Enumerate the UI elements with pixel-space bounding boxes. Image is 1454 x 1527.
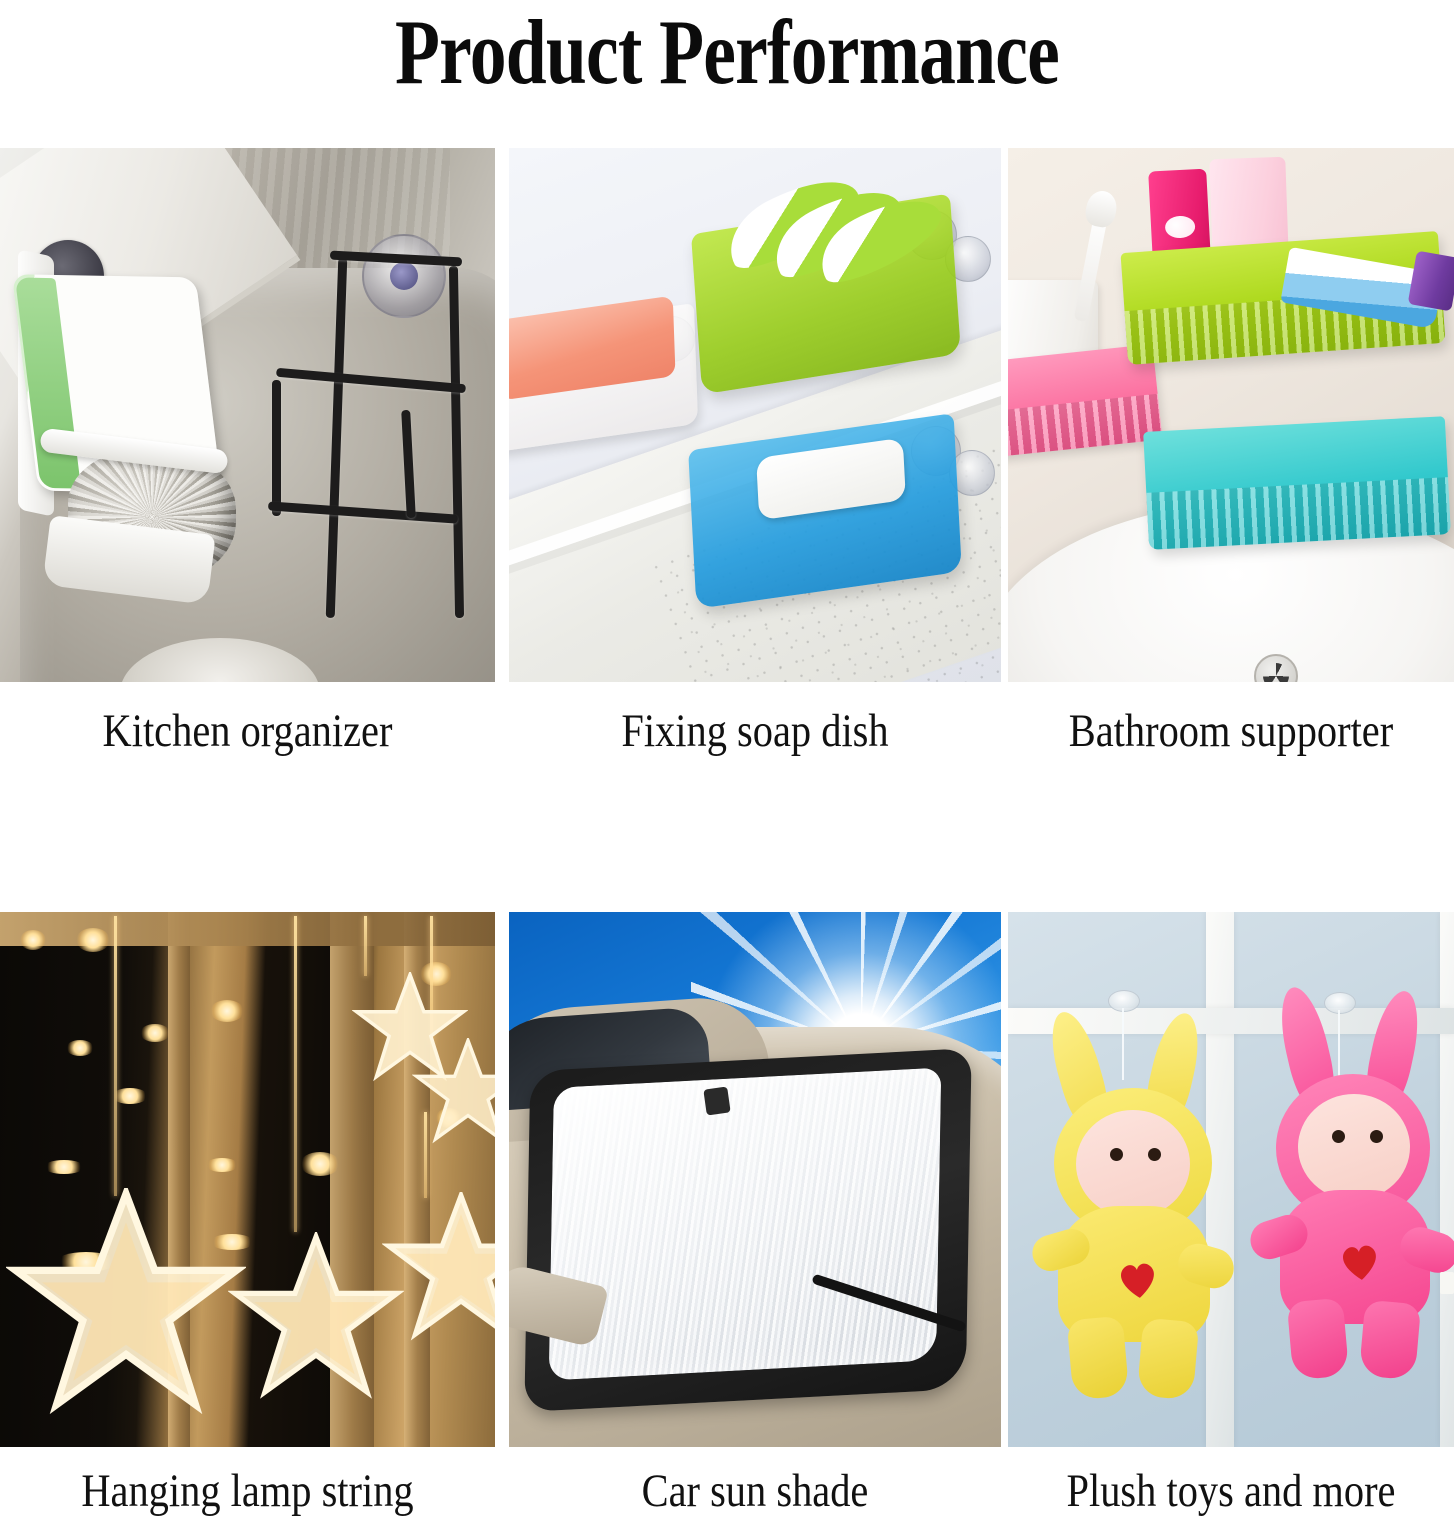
window-header-rail	[0, 912, 495, 946]
bunny-yellow-leg-left	[1067, 1316, 1130, 1401]
bokeh-light-5	[210, 1000, 244, 1022]
bokeh-light-10	[300, 1152, 340, 1176]
photo-car-sun-shade	[509, 912, 1001, 1447]
light-string-cord-2	[294, 916, 297, 1232]
sponge-holder	[12, 253, 230, 553]
product-performance-grid: Kitchen organizer	[0, 148, 1454, 1527]
caption-fixing-soap-dish: Fixing soap dish	[543, 704, 966, 758]
grid-cell-bathroom-supporter: Bathroom supporter	[1008, 148, 1454, 682]
bunny-pink-leg-right	[1359, 1300, 1421, 1381]
caption-plush-toys: Plush toys and more	[1039, 1464, 1423, 1518]
led-star-right-lower	[382, 1192, 495, 1344]
caption-car-sun-shade: Car sun shade	[543, 1464, 966, 1518]
page-title: Product Performance	[145, 0, 1308, 110]
rack-teal	[1143, 416, 1451, 550]
bokeh-light-1	[76, 928, 110, 952]
photo-hanging-lamp-string	[0, 912, 495, 1447]
grid-cell-kitchen-organizer: Kitchen organizer	[0, 148, 495, 682]
bunny-pink-face	[1298, 1094, 1410, 1200]
photo-fixing-soap-dish	[509, 148, 1001, 682]
bunny-yellow-eye-right	[1148, 1148, 1161, 1161]
bokeh-light-6	[44, 1160, 84, 1174]
bokeh-light-7	[206, 1158, 238, 1172]
led-star-right-upper	[412, 1038, 495, 1146]
bokeh-light-11	[112, 1088, 148, 1104]
light-string-cord-1	[114, 916, 117, 1196]
bunny-pink-leg-left	[1287, 1298, 1350, 1381]
windshield-sun-shade	[549, 1068, 942, 1381]
grid-cell-plush-toys: Plush toys and more	[1008, 912, 1454, 1447]
toothpaste-cap-purple	[1408, 251, 1454, 312]
light-string-cord-3	[364, 916, 367, 976]
grid-cell-hanging-lamp-string: Hanging lamp string	[0, 912, 495, 1447]
bokeh-light-3	[140, 1024, 170, 1042]
photo-kitchen-organizer	[0, 148, 495, 682]
plush-bunny-yellow	[1036, 1010, 1256, 1410]
grid-row-2: Hanging lamp string Car sun shade	[0, 912, 1454, 1527]
suction-cup-clear-icon	[362, 234, 446, 318]
led-star-mid	[228, 1232, 404, 1404]
grid-cell-fixing-soap-dish: Fixing soap dish	[509, 148, 1001, 682]
grid-row-1: Kitchen organizer	[0, 148, 1454, 797]
bunny-yellow-leg-right	[1137, 1318, 1200, 1401]
caption-hanging-lamp-string: Hanging lamp string	[35, 1464, 461, 1518]
bunny-pink-eye-left	[1332, 1130, 1345, 1143]
photo-bathroom-supporter	[1008, 148, 1454, 682]
caption-kitchen-organizer: Kitchen organizer	[35, 704, 461, 758]
sun-shade-mirror-notch	[703, 1086, 730, 1115]
photo-plush-toys	[1008, 912, 1454, 1447]
caption-bathroom-supporter: Bathroom supporter	[1039, 704, 1423, 758]
bokeh-light-2	[20, 930, 46, 950]
bokeh-light-4	[66, 1040, 94, 1056]
suction-hook-icon-yellow	[1108, 990, 1140, 1012]
grid-cell-car-sun-shade: Car sun shade	[509, 912, 1001, 1447]
bunny-yellow-eye-left	[1110, 1148, 1123, 1161]
led-star-large-left	[6, 1188, 246, 1420]
wire-rack-front-leg	[272, 380, 281, 516]
bunny-yellow-face	[1076, 1110, 1190, 1218]
bunny-pink-care-tag	[1440, 1272, 1454, 1294]
plush-bunny-pink	[1260, 986, 1454, 1378]
bunny-pink-eye-right	[1370, 1130, 1383, 1143]
